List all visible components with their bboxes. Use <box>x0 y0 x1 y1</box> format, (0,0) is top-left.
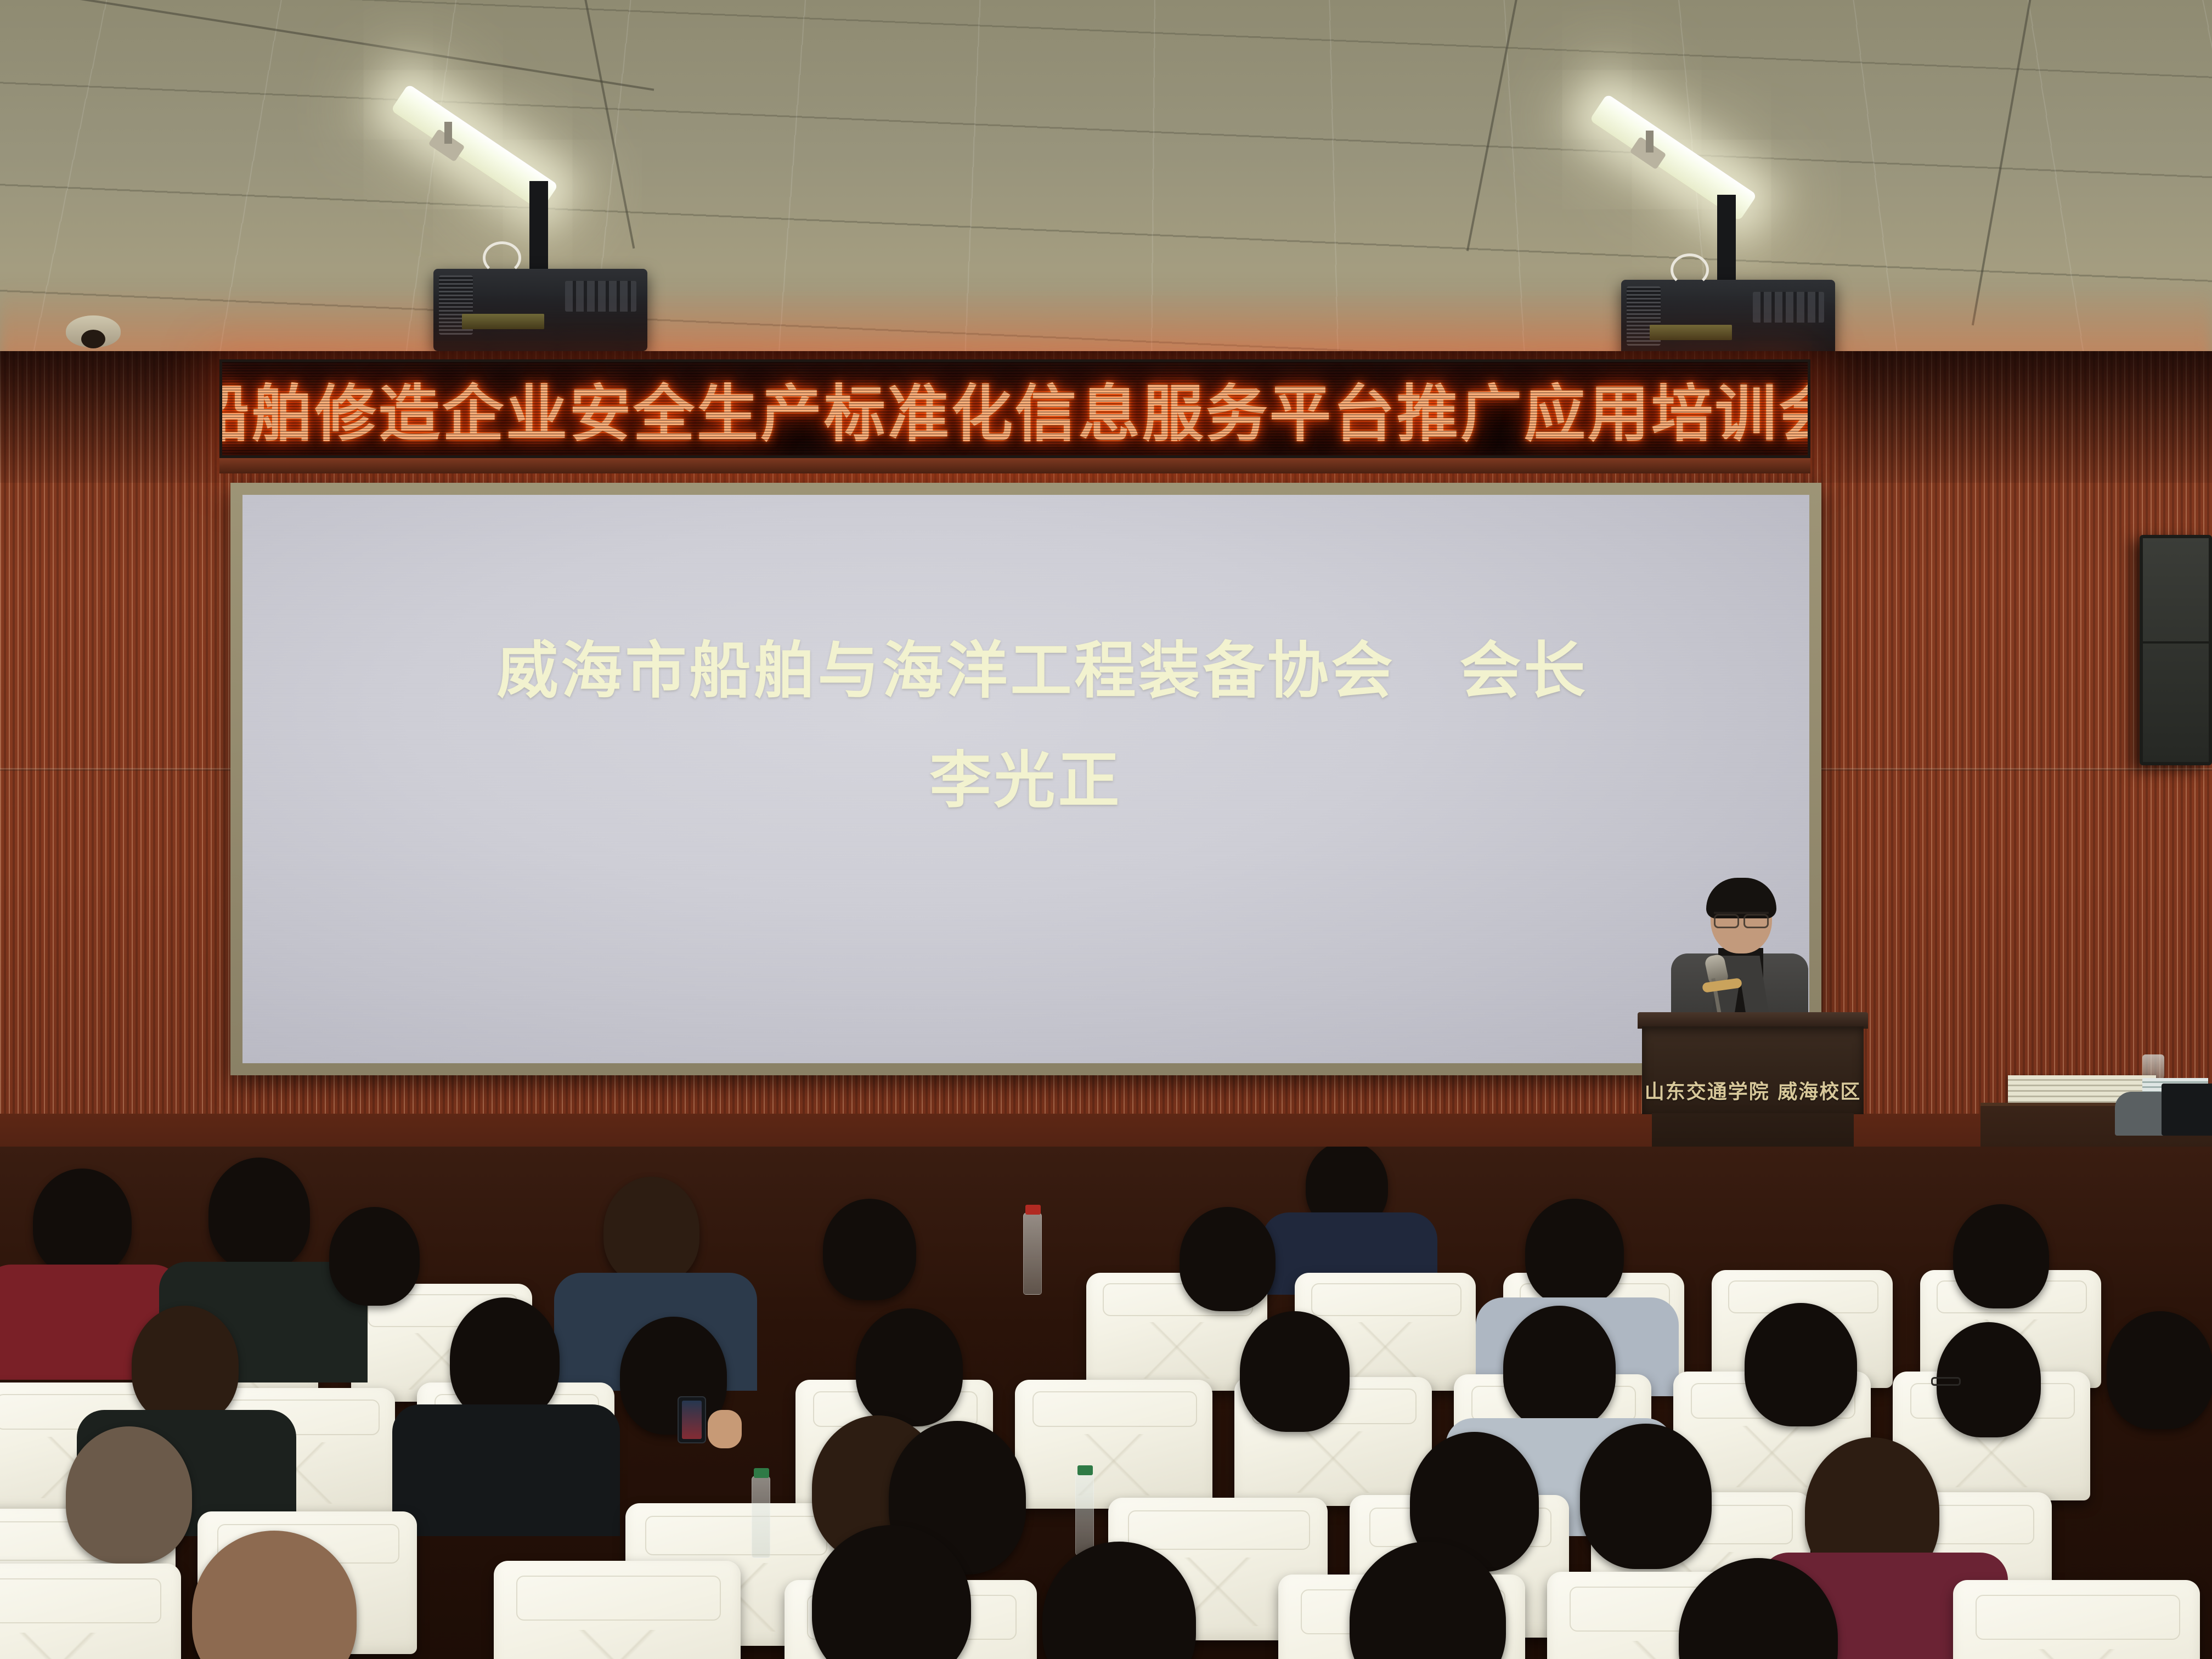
seat[interactable] <box>1953 1580 2200 1659</box>
banner-bezel <box>219 458 1810 473</box>
tube-stem <box>1646 131 1654 153</box>
slide-line-2: 李光正 <box>930 731 1122 820</box>
attendee-head <box>1580 1424 1712 1569</box>
water-bottle <box>1075 1473 1094 1555</box>
water-bottle <box>1023 1212 1042 1295</box>
attendee-head <box>2107 1311 2212 1429</box>
ceiling-projector <box>1621 280 1835 362</box>
led-banner: 船舶修造企业安全生产标准化信息服务平台推广应用培训会 <box>219 359 1810 458</box>
slide-line-1: 威海市船舶与海洋工程装备协会 会长 <box>497 621 1588 710</box>
attendee-head <box>1525 1199 1624 1306</box>
power-cable <box>1671 253 1709 286</box>
glasses-icon <box>1714 912 1769 923</box>
wall-speaker-box <box>2140 535 2212 765</box>
attendee-head <box>1953 1204 2049 1308</box>
projection-screen: 威海市船舶与海洋工程装备协会 会长 李光正 <box>242 495 1809 1063</box>
water-bottle <box>752 1476 770 1558</box>
attendee-hand <box>708 1410 742 1448</box>
attendee-head <box>33 1169 132 1276</box>
attendee-head <box>450 1297 560 1421</box>
audience-area <box>0 1147 2212 1659</box>
projector-keypad <box>565 281 636 312</box>
power-cable <box>483 241 521 274</box>
seat[interactable] <box>494 1561 741 1659</box>
projector-label-strip <box>462 314 544 329</box>
projection-screen-frame: 威海市船舶与海洋工程装备协会 会长 李光正 <box>230 483 1821 1075</box>
attendee-head <box>1240 1311 1350 1432</box>
slide-content: 威海市船舶与海洋工程装备协会 会长 李光正 <box>242 621 1809 820</box>
podium-label: 山东交通学院 威海校区 <box>1645 1076 1861 1104</box>
attendee-head <box>329 1207 420 1306</box>
attendee-head <box>1180 1207 1276 1311</box>
smartphone-icon[interactable] <box>678 1396 706 1443</box>
attendee-shoulders <box>392 1404 620 1536</box>
dark-case <box>2162 1084 2212 1136</box>
glasses-icon <box>1931 1377 1961 1386</box>
podium-face: 山东交通学院 威海校区 <box>1642 1026 1864 1114</box>
led-banner-text: 船舶修造企业安全生产标准化信息服务平台推广应用培训会 <box>219 364 1810 453</box>
projector-keypad <box>1753 292 1824 323</box>
tube-stem <box>444 122 452 144</box>
attendee-head <box>823 1199 916 1300</box>
ceiling-projector <box>433 269 647 351</box>
attendee-head <box>1503 1306 1616 1429</box>
attendee-head <box>1745 1303 1857 1426</box>
ceiling <box>0 0 2212 384</box>
conference-hall-photo: 船舶修造企业安全生产标准化信息服务平台推广应用培训会 威海市船舶与海洋工程装备协… <box>0 0 2212 1659</box>
attendee-head <box>208 1158 310 1270</box>
seat[interactable] <box>0 1564 181 1659</box>
attendee-head <box>856 1308 963 1426</box>
seat[interactable] <box>1015 1380 1212 1509</box>
projector-label-strip <box>1650 325 1732 340</box>
dome-camera-icon <box>66 315 121 347</box>
attendee-head <box>66 1426 192 1564</box>
attendee-head <box>603 1177 699 1284</box>
attendee-head <box>132 1306 239 1424</box>
